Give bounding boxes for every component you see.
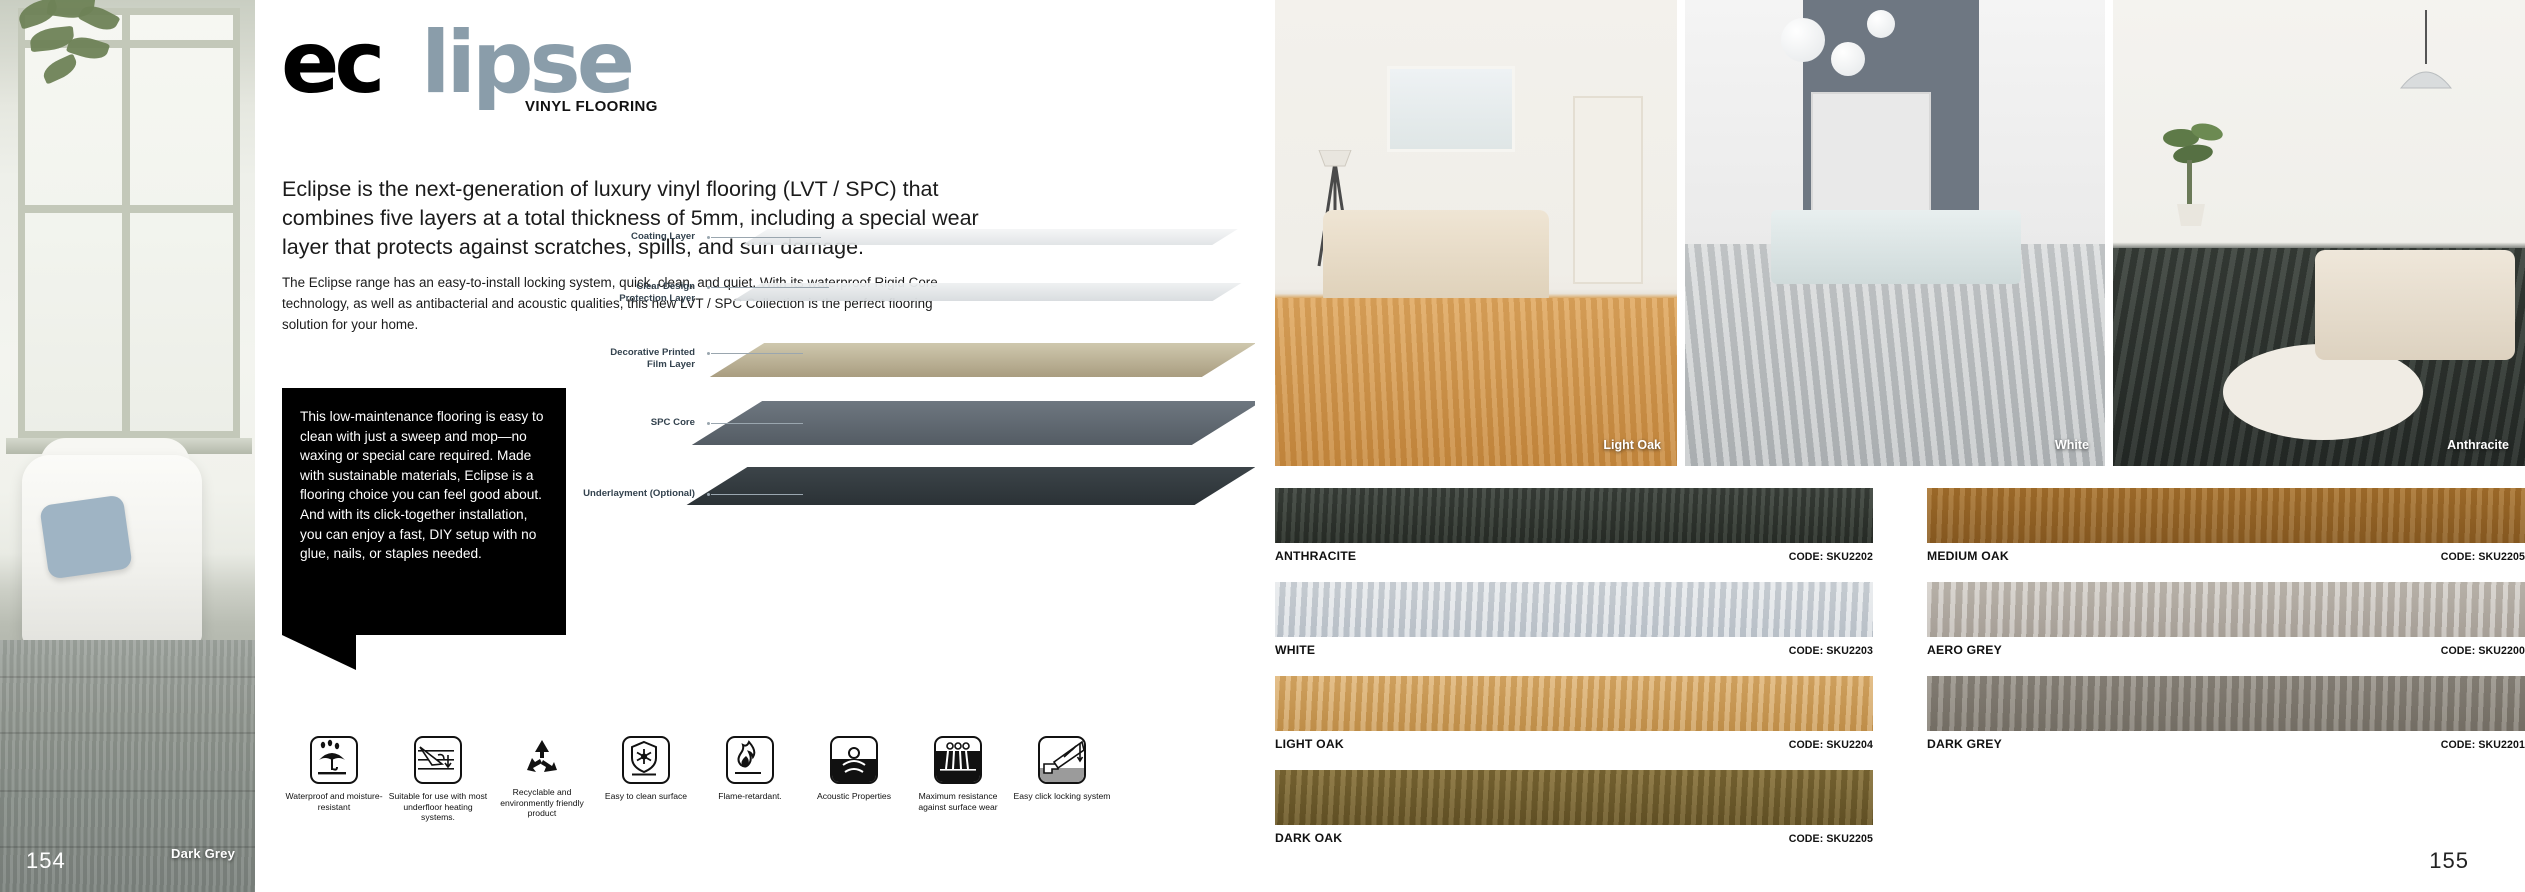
slab-decorative-film — [710, 343, 1256, 377]
swatch-anthracite[interactable]: ANTHRACITE CODE: SKU2202 — [1275, 488, 1873, 563]
swatch-name: ANTHRACITE — [1275, 549, 1356, 563]
feature-flame-retardant: Flame-retardant. — [698, 736, 802, 802]
pendant-light — [1831, 42, 1865, 76]
swatch-name: AERO GREY — [1927, 643, 2002, 657]
feature-caption: Recyclable and environmently friendly pr… — [490, 787, 594, 819]
feature-underfloor-heating: Suitable for use with most underfloor he… — [386, 736, 490, 823]
feature-easy-clean: Easy to clean surface — [594, 736, 698, 802]
swatch-name: DARK GREY — [1927, 737, 2002, 751]
feature-caption: Easy to clean surface — [594, 791, 698, 802]
logo-text-dark: ec — [281, 20, 380, 106]
page-number-right: 155 — [2429, 848, 2469, 874]
photo-cushion — [39, 495, 132, 580]
swatch-image — [1927, 582, 2525, 637]
feature-click-lock: Easy click locking system — [1010, 736, 1114, 802]
swatch-light-oak[interactable]: LIGHT OAK CODE: SKU2204 — [1275, 676, 1873, 751]
right-page: Light Oak White — [1255, 0, 2525, 892]
layer-label-0: Coating Layer — [515, 231, 695, 243]
click-lock-icon — [1038, 736, 1086, 784]
swatch-image — [1275, 582, 1873, 637]
left-photo-caption: Dark Grey — [171, 846, 235, 861]
left-page: Dark Grey 154 ec lipse VINYL FLOORING Ec… — [0, 0, 1255, 892]
swatch-code: CODE: SKU2205 — [2441, 551, 2525, 563]
shield-antibacterial-icon — [622, 736, 670, 784]
room-photo-light-oak: Light Oak — [1275, 0, 1677, 466]
callout-tail — [282, 635, 356, 670]
logo-tagline: VINYL FLOORING — [525, 98, 658, 115]
swatch-code: CODE: SKU2201 — [2441, 739, 2525, 751]
sofa — [1323, 210, 1549, 306]
photo-plant — [14, 0, 134, 164]
recycle-icon — [520, 736, 564, 780]
layer-diagram: Coating Layer Clear Design Protection La… — [455, 205, 1265, 685]
catalogue-spread: Dark Grey 154 ec lipse VINYL FLOORING Ec… — [0, 0, 2525, 892]
swatch-image — [1927, 488, 2525, 543]
feature-waterproof: Waterproof and moisture-resistant — [282, 736, 386, 812]
swatch-code: CODE: SKU2205 — [1789, 833, 1873, 845]
swatch-medium-oak[interactable]: MEDIUM OAK CODE: SKU2205 — [1927, 488, 2525, 563]
swatch-image — [1927, 676, 2525, 731]
room-photo-row: Light Oak White — [1275, 0, 2525, 466]
eclipse-logo: ec lipse VINYL FLOORING — [281, 20, 701, 110]
swatch-image — [1275, 676, 1873, 731]
swatch-code: CODE: SKU2200 — [2441, 645, 2525, 657]
room-photo-white: White — [1685, 0, 2105, 466]
logo-text-light: lipse — [421, 20, 631, 106]
feature-caption: Maximum resistance against surface wear — [906, 791, 1010, 812]
layer-label-4: Underlayment (Optional) — [475, 488, 695, 500]
layer-label-2: Decorative Printed Film Layer — [495, 347, 695, 371]
left-page-content: ec lipse VINYL FLOORING Eclipse is the n… — [255, 0, 1255, 892]
swatch-code: CODE: SKU2203 — [1789, 645, 1873, 657]
swatch-image — [1275, 770, 1873, 825]
pendant-light — [1781, 18, 1825, 62]
layer-label-3: SPC Core — [535, 417, 695, 429]
swatch-name: MEDIUM OAK — [1927, 549, 2009, 563]
pendant-light — [1867, 10, 1895, 38]
surface-wear-icon — [934, 736, 982, 784]
acoustic-waves-icon — [830, 736, 878, 784]
bookshelf — [1811, 92, 1931, 216]
flame-icon — [726, 736, 774, 784]
feature-surface-wear: Maximum resistance against surface wear — [906, 736, 1010, 812]
window-mullion-horizontal-mid — [18, 205, 240, 213]
umbrella-rain-icon — [310, 736, 358, 784]
underfloor-heating-icon — [414, 736, 462, 784]
swatch-image — [1275, 488, 1873, 543]
slab-underlayment — [687, 467, 1256, 505]
feature-icon-row: Waterproof and moisture-resistant — [282, 736, 1012, 856]
room-photo-anthracite: Anthracite — [2113, 0, 2525, 466]
swatch-dark-oak[interactable]: DARK OAK CODE: SKU2205 — [1275, 770, 1873, 845]
left-room-photo: Dark Grey 154 — [0, 0, 255, 892]
feature-acoustic: Acoustic Properties — [802, 736, 906, 802]
swatch-code: CODE: SKU2202 — [1789, 551, 1873, 563]
dome-lamp — [2391, 10, 2461, 130]
swatch-aero-grey[interactable]: AERO GREY CODE: SKU2200 — [1927, 582, 2525, 657]
swatch-grid: ANTHRACITE CODE: SKU2202 MEDIUM OAK CODE… — [1275, 488, 2525, 868]
feature-caption: Flame-retardant. — [698, 791, 802, 802]
swatch-code: CODE: SKU2204 — [1789, 739, 1873, 751]
layer-label-1: Clear Design Protection Layer — [515, 281, 695, 305]
wall-art — [1387, 66, 1515, 152]
slab-clear-design — [733, 283, 1242, 301]
swatch-name: WHITE — [1275, 643, 1315, 657]
page-number-left: 154 — [26, 848, 66, 874]
meeting-table — [1771, 210, 2021, 284]
feature-caption: Acoustic Properties — [802, 791, 906, 802]
swatch-name: DARK OAK — [1275, 831, 1342, 845]
swatch-name: LIGHT OAK — [1275, 737, 1344, 751]
sofa — [2315, 250, 2515, 360]
photo-caption: Anthracite — [2447, 438, 2509, 452]
swatch-white[interactable]: WHITE CODE: SKU2203 — [1275, 582, 1873, 657]
feature-caption: Waterproof and moisture-resistant — [282, 791, 386, 812]
photo-caption: White — [2055, 438, 2089, 452]
photo-caption: Light Oak — [1603, 438, 1661, 452]
feature-recyclable: Recyclable and environmently friendly pr… — [490, 736, 594, 819]
feature-caption: Suitable for use with most underfloor he… — [386, 791, 490, 823]
swatch-dark-grey[interactable]: DARK GREY CODE: SKU2201 — [1927, 676, 2525, 751]
shelf-unit — [1573, 96, 1643, 284]
feature-caption: Easy click locking system — [1010, 791, 1114, 802]
